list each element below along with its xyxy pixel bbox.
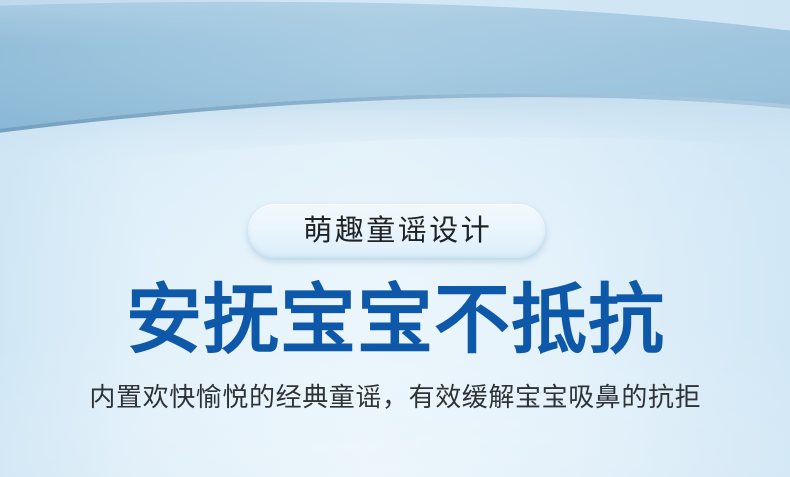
feature-badge-label: 萌趣童谣设计	[301, 217, 493, 246]
headline-text: 安抚宝宝不抵抗	[125, 282, 665, 360]
subtitle: 内置欢快愉悦的经典童谣，有效缓解宝宝吸鼻的抗拒	[0, 381, 790, 413]
product-feature-banner: 萌趣童谣设计 安抚宝宝不抵抗 内置欢快愉悦的经典童谣，有效缓解宝宝吸鼻的抗拒	[0, 0, 790, 477]
headline: 安抚宝宝不抵抗	[0, 282, 790, 360]
feature-badge: 萌趣童谣设计	[248, 204, 545, 258]
subtitle-text: 内置欢快愉悦的经典童谣，有效缓解宝宝吸鼻的抗拒	[89, 381, 701, 413]
